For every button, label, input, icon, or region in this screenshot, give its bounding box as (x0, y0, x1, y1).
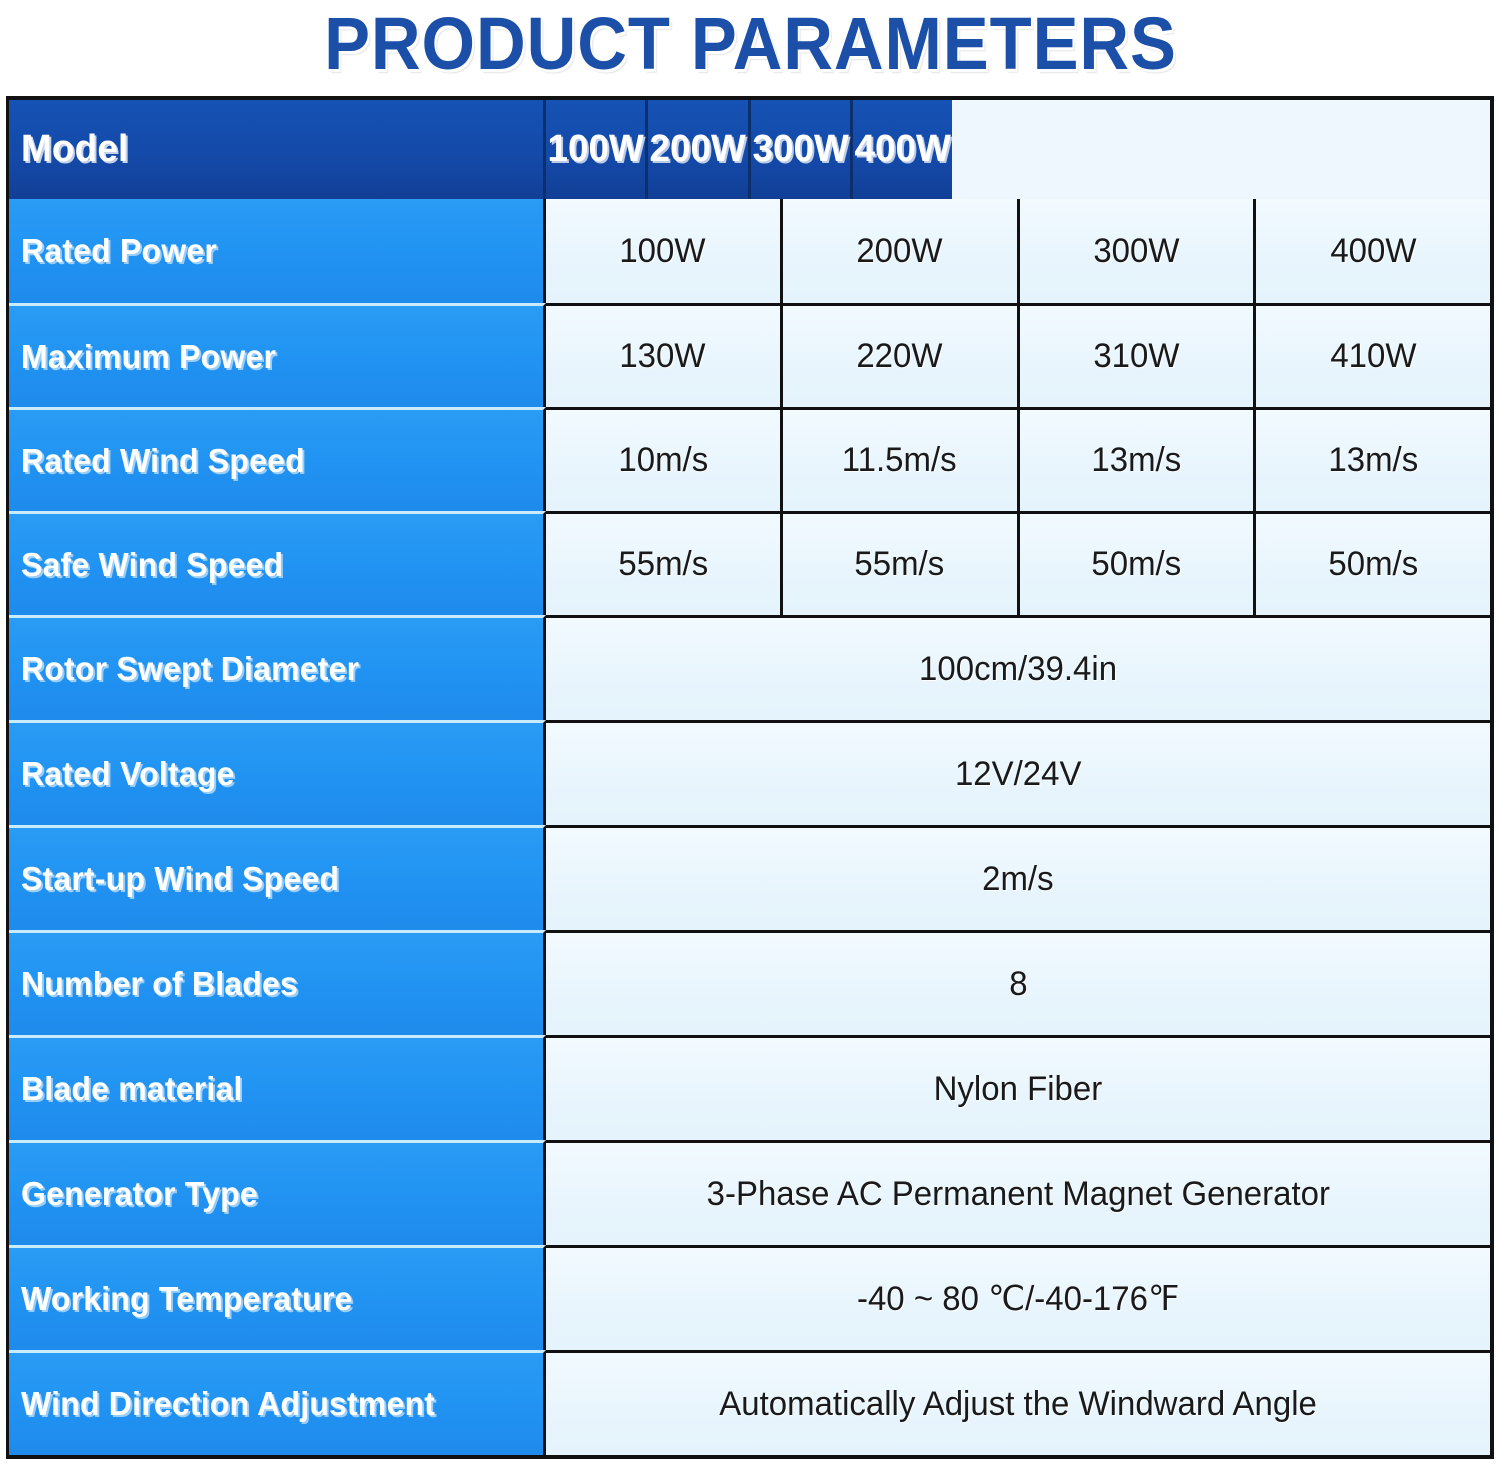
row-label-rotor-swept-diameter: Rotor Swept Diameter (9, 615, 546, 720)
row-label-text: Generator Type (21, 1175, 258, 1213)
cell-rated-wind-speed-300w: 13m/s (1020, 407, 1257, 511)
cell-rated-power-100w: 100W (546, 199, 783, 303)
row-label-text: Safe Wind Speed (21, 546, 283, 584)
header-label-text: Model (21, 128, 128, 171)
cell-rated-wind-speed-400w: 13m/s (1256, 407, 1490, 511)
table-row: Rotor Swept Diameter 100cm/39.4in (9, 615, 1490, 720)
row-label-text: Blade material (21, 1070, 243, 1108)
cell-text: 8 (1009, 965, 1027, 1004)
row-label-rated-voltage: Rated Voltage (9, 720, 546, 825)
cell-text: 13m/s (1328, 441, 1418, 480)
cell-safe-wind-speed-200w: 55m/s (783, 511, 1020, 615)
cell-text: 55m/s (855, 545, 945, 584)
row-label-generator-type: Generator Type (9, 1140, 546, 1245)
header-col-1-text: 100W (547, 128, 643, 171)
table-row: Safe Wind Speed 55m/s 55m/s 50m/s 50m/s (9, 511, 1490, 615)
row-label-text: Working Temperature (21, 1280, 353, 1318)
table-row: Maximum Power 130W 220W 310W 410W (9, 303, 1490, 407)
header-col-3: 300W (751, 100, 853, 199)
cell-text: 3-Phase AC Permanent Magnet Generator (706, 1175, 1329, 1214)
row-label-text: Maximum Power (21, 338, 276, 376)
cell-text: 400W (1330, 232, 1416, 271)
cell-text: 300W (1093, 232, 1179, 271)
table-row: Rated Wind Speed 10m/s 11.5m/s 13m/s 13m… (9, 407, 1490, 511)
cell-text: 13m/s (1091, 441, 1181, 480)
row-label-text: Rotor Swept Diameter (21, 650, 359, 688)
cell-text: 2m/s (982, 860, 1053, 899)
cell-text: 10m/s (618, 441, 708, 480)
cell-maximum-power-300w: 310W (1020, 303, 1257, 407)
row-label-start-up-wind-speed: Start-up Wind Speed (9, 825, 546, 930)
row-label-number-of-blades: Number of Blades (9, 930, 546, 1035)
cell-working-temperature-value: -40 ~ 80 ℃/-40-176℉ (546, 1245, 1490, 1350)
table-row: Generator Type 3-Phase AC Permanent Magn… (9, 1140, 1490, 1245)
header-col-4: 400W (853, 100, 952, 199)
cell-text: 410W (1330, 337, 1416, 376)
cell-text: Automatically Adjust the Windward Angle (719, 1385, 1317, 1424)
cell-rated-power-400w: 400W (1256, 199, 1490, 303)
cell-rated-power-200w: 200W (783, 199, 1020, 303)
header-col-4-text: 400W (854, 128, 950, 171)
row-label-rated-wind-speed: Rated Wind Speed (9, 407, 546, 511)
cell-wind-direction-adjustment-value: Automatically Adjust the Windward Angle (546, 1350, 1490, 1455)
table-row: Rated Power 100W 200W 300W 400W (9, 199, 1490, 303)
table-row: Start-up Wind Speed 2m/s (9, 825, 1490, 930)
cell-text: -40 ~ 80 ℃/-40-176℉ (857, 1279, 1179, 1319)
row-label-blade-material: Blade material (9, 1035, 546, 1140)
row-label-text: Rated Power (21, 232, 217, 270)
table-row: Wind Direction Adjustment Automatically … (9, 1350, 1490, 1455)
cell-rotor-swept-diameter-value: 100cm/39.4in (546, 615, 1490, 720)
cell-rated-voltage-value: 12V/24V (546, 720, 1490, 825)
cell-generator-type-value: 3-Phase AC Permanent Magnet Generator (546, 1140, 1490, 1245)
cell-start-up-wind-speed-value: 2m/s (546, 825, 1490, 930)
table-row: Working Temperature -40 ~ 80 ℃/-40-176℉ (9, 1245, 1490, 1350)
row-label-wind-direction-adjustment: Wind Direction Adjustment (9, 1350, 546, 1455)
row-label-text: Start-up Wind Speed (21, 860, 339, 898)
row-label-text: Wind Direction Adjustment (21, 1385, 435, 1423)
header-col-1: 100W (546, 100, 648, 199)
cell-maximum-power-100w: 130W (546, 303, 783, 407)
cell-maximum-power-400w: 410W (1256, 303, 1490, 407)
specifications-table: Model 100W 200W 300W 400W Rated Power 10… (6, 96, 1494, 1459)
cell-blade-material-value: Nylon Fiber (546, 1035, 1490, 1140)
cell-text: 100W (620, 232, 706, 271)
row-label-maximum-power: Maximum Power (9, 303, 546, 407)
cell-safe-wind-speed-100w: 55m/s (546, 511, 783, 615)
header-col-2-text: 200W (650, 128, 746, 171)
cell-safe-wind-speed-400w: 50m/s (1256, 511, 1490, 615)
table-row: Blade material Nylon Fiber (9, 1035, 1490, 1140)
cell-text: 100cm/39.4in (919, 650, 1117, 689)
cell-text: 220W (857, 337, 943, 376)
cell-text: 12V/24V (955, 755, 1082, 794)
cell-text: 11.5m/s (842, 441, 957, 480)
cell-text: Nylon Fiber (934, 1070, 1103, 1109)
product-parameters-page: PRODUCT PARAMETERS Model 100W 200W 300W … (0, 0, 1500, 1477)
page-title: PRODUCT PARAMETERS (324, 2, 1177, 86)
table-row: Number of Blades 8 (9, 930, 1490, 1035)
header-label-model: Model (9, 100, 546, 199)
page-title-area: PRODUCT PARAMETERS (0, 0, 1500, 96)
row-label-working-temperature: Working Temperature (9, 1245, 546, 1350)
table-row: Rated Voltage 12V/24V (9, 720, 1490, 825)
header-col-3-text: 300W (752, 128, 848, 171)
cell-text: 50m/s (1328, 545, 1418, 584)
row-label-text: Rated Voltage (21, 755, 235, 793)
row-label-rated-power: Rated Power (9, 199, 546, 303)
cell-text: 50m/s (1091, 545, 1181, 584)
cell-safe-wind-speed-300w: 50m/s (1020, 511, 1257, 615)
header-col-2: 200W (648, 100, 750, 199)
cell-number-of-blades-value: 8 (546, 930, 1490, 1035)
row-label-text: Rated Wind Speed (21, 442, 305, 480)
row-label-text: Number of Blades (21, 965, 298, 1003)
cell-rated-power-300w: 300W (1020, 199, 1257, 303)
cell-text: 310W (1093, 337, 1179, 376)
cell-maximum-power-200w: 220W (783, 303, 1020, 407)
row-label-safe-wind-speed: Safe Wind Speed (9, 511, 546, 615)
cell-rated-wind-speed-100w: 10m/s (546, 407, 783, 511)
cell-rated-wind-speed-200w: 11.5m/s (783, 407, 1020, 511)
cell-text: 200W (857, 232, 943, 271)
cell-text: 55m/s (618, 545, 708, 584)
table-header-row: Model 100W 200W 300W 400W (9, 100, 1490, 199)
cell-text: 130W (620, 337, 706, 376)
